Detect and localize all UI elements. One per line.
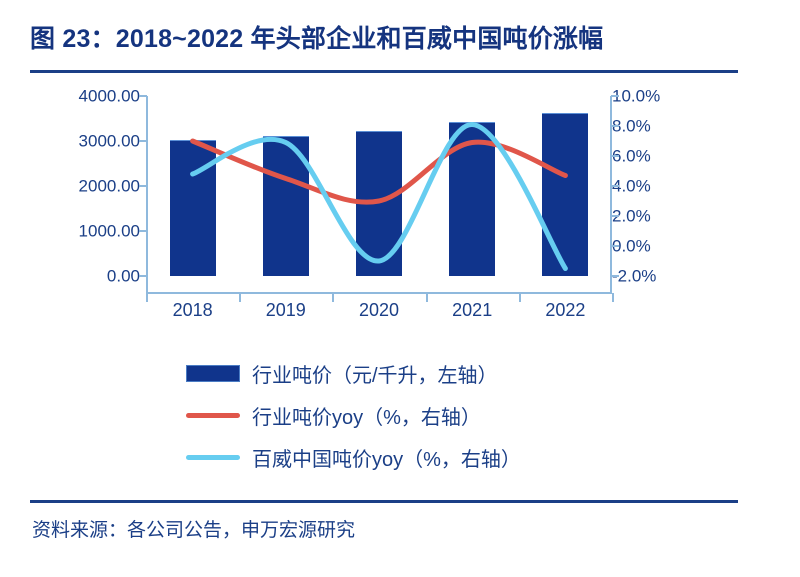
y-axis-right-tick <box>611 95 619 97</box>
legend-item-bar: 行业吨价（元/千升，左轴） <box>0 352 800 394</box>
legend-label-bar: 行业吨价（元/千升，左轴） <box>252 359 498 388</box>
legend-item-industry-yoy: 行业吨价yoy（%，右轴） <box>0 394 800 436</box>
y-axis-left-tick-label: 4000.00 <box>79 88 140 105</box>
chart-figure: 图 23：2018~2022 年头部企业和百威中国吨价涨幅 0.001000.0… <box>0 0 800 577</box>
source-note: 资料来源：各公司公告，申万宏源研究 <box>32 515 355 542</box>
line-budweiser-yoy <box>193 124 566 268</box>
legend-swatch-budweiser-yoy <box>186 455 240 460</box>
plot-area: 0.001000.002000.003000.004000.00 -2.0%0.… <box>0 78 800 318</box>
y-axis-right-tick <box>611 125 619 127</box>
legend-swatch-industry-yoy <box>186 413 240 418</box>
legend-label-industry-yoy: 行业吨价yoy（%，右轴） <box>252 401 481 430</box>
line-industry-yoy <box>193 141 566 202</box>
x-axis-label-2018: 2018 <box>173 300 213 321</box>
y-axis-right-tick <box>611 245 619 247</box>
y-axis-left-tick-label: 1000.00 <box>79 223 140 240</box>
x-axis-label-2019: 2019 <box>266 300 306 321</box>
y-axis-left-tick-label: 0.00 <box>107 268 140 285</box>
y-axis-right-tick <box>611 215 619 217</box>
y-axis-left-tick-label: 3000.00 <box>79 133 140 150</box>
y-axis-right-tick <box>611 185 619 187</box>
x-axis-labels: 20182019202020212022 <box>146 300 612 330</box>
line-series <box>146 78 612 293</box>
title-container: 图 23：2018~2022 年头部企业和百威中国吨价涨幅 <box>30 22 770 56</box>
title-divider <box>30 70 738 73</box>
x-axis-tick <box>612 293 614 302</box>
x-axis-label-2020: 2020 <box>359 300 399 321</box>
y-axis-left-tick-label: 2000.00 <box>79 178 140 195</box>
legend-label-budweiser-yoy: 百威中国吨价yoy（%，右轴） <box>252 443 521 472</box>
y-axis-right-labels: -2.0%0.0%2.0%4.0%6.0%8.0%10.0% <box>612 78 702 293</box>
legend-item-budweiser-yoy: 百威中国吨价yoy（%，右轴） <box>0 436 800 478</box>
chart-legend: 行业吨价（元/千升，左轴） 行业吨价yoy（%，右轴） 百威中国吨价yoy（%，… <box>0 352 800 478</box>
y-axis-right-tick <box>611 275 619 277</box>
legend-swatch-bar <box>186 365 240 382</box>
plot-canvas <box>146 78 612 293</box>
x-axis-label-2021: 2021 <box>452 300 492 321</box>
footer-divider <box>30 500 738 503</box>
y-axis-right-tick <box>611 155 619 157</box>
page-title: 图 23：2018~2022 年头部企业和百威中国吨价涨幅 <box>30 22 770 56</box>
y-axis-right-tick-label: 10.0% <box>612 88 660 105</box>
y-axis-left-labels: 0.001000.002000.003000.004000.00 <box>36 78 140 293</box>
x-axis-label-2022: 2022 <box>545 300 585 321</box>
